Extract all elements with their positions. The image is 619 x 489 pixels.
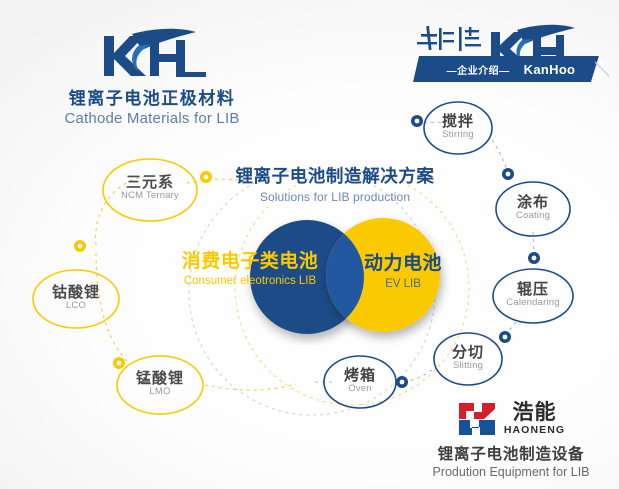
node-lmo[interactable]: 锰酸锂 LMO bbox=[122, 371, 198, 397]
brand-br-cn: 锂离子电池制造设备 bbox=[411, 442, 611, 464]
haoneng-mark-icon bbox=[457, 400, 497, 438]
node-coating-cn: 涂布 bbox=[499, 195, 567, 211]
node-calendaring-en: Calendaring bbox=[495, 297, 571, 308]
node-oven[interactable]: 烤箱 Oven bbox=[326, 368, 394, 394]
node-coating[interactable]: 涂布 Coating bbox=[499, 195, 567, 221]
node-lco-cn: 钴酸锂 bbox=[38, 285, 114, 301]
node-oven-cn: 烤箱 bbox=[326, 368, 394, 384]
node-ncm-cn: 三元系 bbox=[110, 175, 190, 191]
node-slitting-cn: 分切 bbox=[434, 345, 502, 361]
node-slitting-en: Slitting bbox=[434, 360, 502, 371]
haoneng-en: HAONENG bbox=[504, 424, 565, 436]
haoneng-cn: 浩能 bbox=[504, 402, 565, 423]
node-ncm-en: NCM Ternary bbox=[110, 190, 190, 201]
node-calendaring[interactable]: 辊压 Calendaring bbox=[495, 282, 571, 308]
node-oven-en: Oven bbox=[326, 383, 394, 394]
haoneng-logo-row: 浩能 HAONENG bbox=[411, 400, 611, 438]
node-stirring[interactable]: 搅拌 Stirring bbox=[424, 114, 492, 140]
node-calendaring-cn: 辊压 bbox=[495, 282, 571, 298]
node-lco-en: LCO bbox=[38, 300, 114, 311]
brand-br-en: Prodution Equipment for LIB bbox=[411, 465, 611, 479]
node-ncm[interactable]: 三元系 NCM Ternary bbox=[110, 175, 190, 201]
node-stirring-cn: 搅拌 bbox=[424, 114, 492, 130]
node-lco[interactable]: 钴酸锂 LCO bbox=[38, 285, 114, 311]
node-stirring-en: Stirring bbox=[424, 129, 492, 140]
node-slitting[interactable]: 分切 Slitting bbox=[434, 345, 502, 371]
node-lmo-en: LMO bbox=[122, 386, 198, 397]
node-coating-en: Coating bbox=[499, 210, 567, 221]
haoneng-wordmark: 浩能 HAONENG bbox=[504, 402, 565, 436]
infographic-canvas: 锂离子电池正极材料 Cathode Materials for LIB bbox=[0, 0, 619, 489]
node-lmo-cn: 锰酸锂 bbox=[122, 371, 198, 387]
brand-bottom-right: 浩能 HAONENG 锂离子电池制造设备 Prodution Equipment… bbox=[411, 400, 611, 479]
